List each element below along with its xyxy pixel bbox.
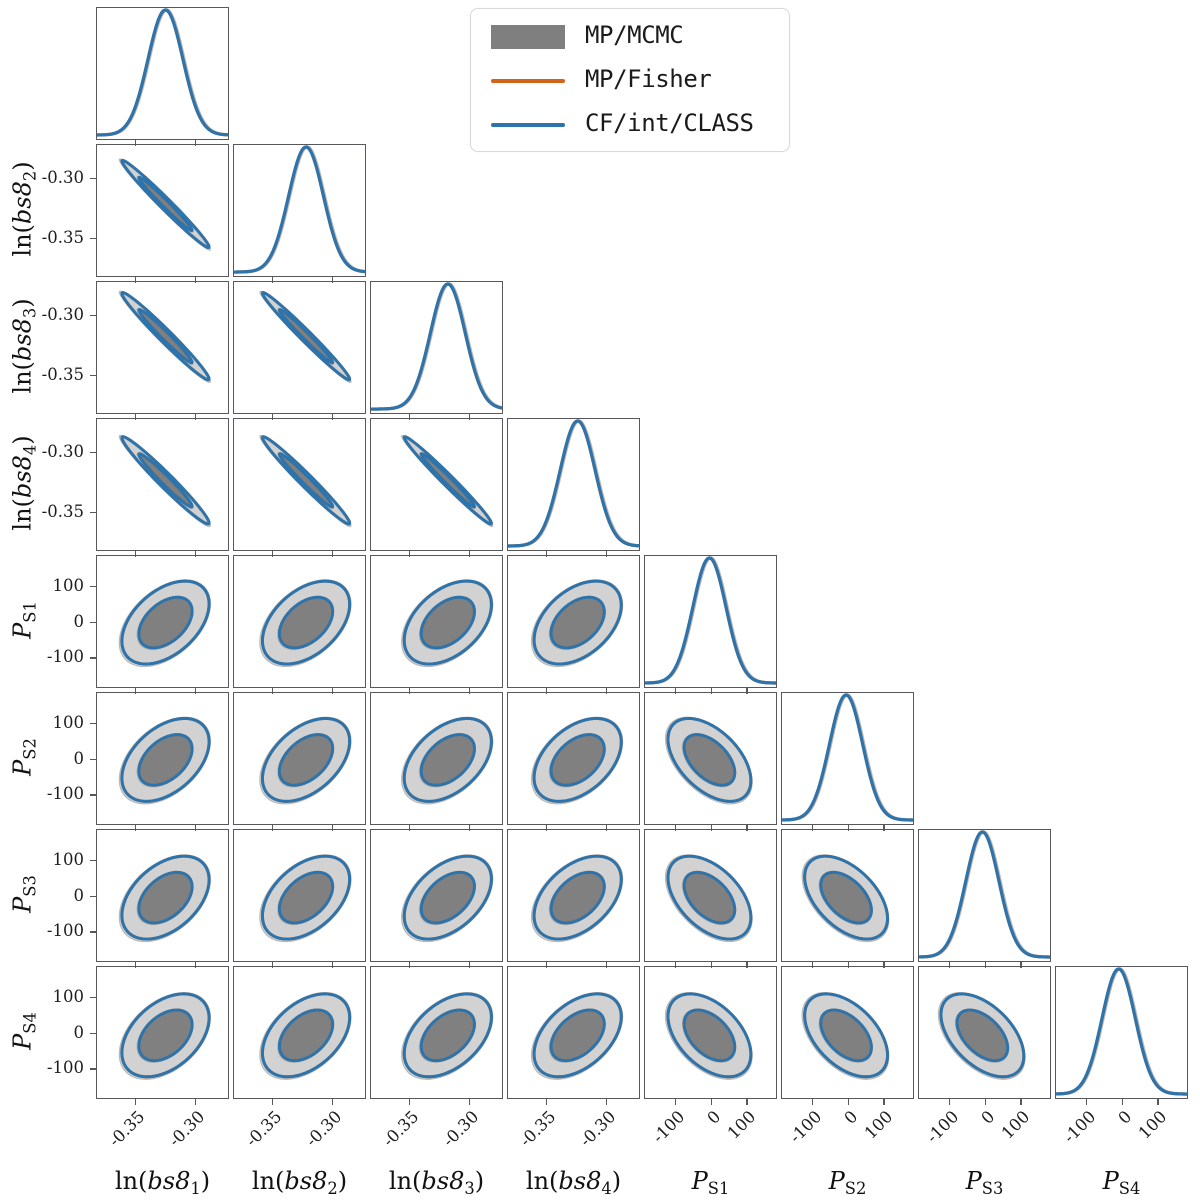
x-tick-mark [812,825,813,831]
x-tick-mark [272,1099,273,1105]
x-tick-mark [195,1099,196,1105]
x-tick-mark [546,551,547,557]
y-tick-mark [90,759,96,760]
x-tick-mark [746,962,747,968]
x-tick-mark [195,414,196,420]
legend-swatch-fisher [489,61,567,101]
x-tick-label: -0.30 [290,1107,346,1163]
legend-patch-icon [491,25,565,49]
panel-lnbs82-vs-lnbs81 [96,144,229,277]
x-tick-mark [332,1099,333,1105]
panel-PS2-vs-lnbs84 [507,692,640,825]
x-tick-mark [135,277,136,283]
panel-PS3-vs-lnbs84 [507,829,640,962]
legend-line-icon [491,79,565,83]
panel-PS1-vs-lnbs84 [507,555,640,688]
y-tick-mark [90,512,96,513]
x-tick-mark [711,825,712,831]
x-tick-mark [606,1099,607,1105]
panel-diagonal-PS4 [1055,966,1188,1099]
panel-diagonal-PS1 [644,555,777,688]
panel-diagonal-lnbs84 [507,418,640,551]
x-tick-mark [195,551,196,557]
panel-PS4-vs-lnbs82 [233,966,366,1099]
panel-PS4-vs-lnbs81 [96,966,229,1099]
x-tick-mark [546,688,547,694]
x-tick-mark [469,688,470,694]
panel-PS4-vs-PS2 [781,966,914,1099]
x-tick-mark [1086,1099,1087,1105]
x-tick-mark [883,962,884,968]
y-tick-mark [90,860,96,861]
x-tick-mark [848,825,849,831]
x-tick-mark [469,551,470,557]
panel-diagonal-lnbs81 [96,7,229,140]
y-tick-mark [90,657,96,658]
panel-PS2-vs-lnbs82 [233,692,366,825]
panel-diagonal-lnbs83 [370,281,503,414]
x-tick-mark [606,551,607,557]
x-tick-mark [606,962,607,968]
x-tick-mark [272,551,273,557]
x-tick-mark [332,825,333,831]
panel-lnbs84-vs-lnbs82 [233,418,366,551]
x-tick-mark [546,1099,547,1105]
panel-PS4-vs-lnbs84 [507,966,640,1099]
x-tick-mark [409,962,410,968]
y-tick-mark [90,723,96,724]
x-tick-mark [195,140,196,146]
x-tick-mark [883,1099,884,1105]
x-tick-mark [711,1099,712,1105]
x-tick-mark [332,551,333,557]
panel-PS4-vs-lnbs83 [370,966,503,1099]
x-tick-label: -0.30 [427,1107,483,1163]
x-tick-mark [949,962,950,968]
panel-PS4-vs-PS3 [918,966,1051,1099]
y-axis-label-PS4: PS4 [8,944,36,1117]
x-tick-label: -0.35 [229,1107,285,1163]
panel-PS3-vs-lnbs83 [370,829,503,962]
x-tick-mark [985,1099,986,1105]
x-axis-label-PS4: PS4 [1035,1167,1200,1195]
x-tick-mark [135,825,136,831]
panel-lnbs84-vs-lnbs83 [370,418,503,551]
y-tick-mark [90,178,96,179]
y-tick-mark [90,896,96,897]
panel-lnbs83-vs-lnbs82 [233,281,366,414]
panel-PS1-vs-lnbs82 [233,555,366,688]
panel-PS3-vs-lnbs81 [96,829,229,962]
x-tick-mark [135,414,136,420]
x-tick-mark [848,1099,849,1105]
y-tick-mark [90,586,96,587]
legend-label-class: CF/int/CLASS [585,109,754,137]
panel-diagonal-PS2 [781,692,914,825]
panel-PS1-vs-lnbs81 [96,555,229,688]
legend-line-icon [491,123,565,127]
x-tick-mark [469,1099,470,1105]
x-tick-mark [272,962,273,968]
x-tick-label: -0.30 [564,1107,620,1163]
x-tick-mark [606,825,607,831]
x-tick-mark [675,1099,676,1105]
x-tick-mark [195,277,196,283]
panel-PS4-vs-PS1 [644,966,777,1099]
x-tick-mark [746,1099,747,1105]
legend-entry-class: CF/int/CLASS [489,105,779,145]
y-tick-mark [90,238,96,239]
x-tick-mark [469,414,470,420]
x-tick-mark [332,962,333,968]
x-tick-mark [606,688,607,694]
x-tick-mark [272,414,273,420]
x-tick-label: -0.35 [366,1107,422,1163]
panel-PS1-vs-lnbs83 [370,555,503,688]
legend-entry-fisher: MP/Fisher [489,61,779,101]
x-tick-mark [332,277,333,283]
y-tick-mark [90,1068,96,1069]
x-tick-mark [711,962,712,968]
x-tick-mark [1157,1099,1158,1105]
x-tick-mark [135,1099,136,1105]
x-tick-mark [135,962,136,968]
panel-PS3-vs-PS1 [644,829,777,962]
x-tick-label: -0.35 [92,1107,148,1163]
x-tick-mark [195,962,196,968]
legend: MP/MCMC MP/Fisher CF/int/CLASS [470,8,790,152]
panel-diagonal-PS3 [918,829,1051,962]
x-tick-mark [1122,1099,1123,1105]
y-tick-mark [90,997,96,998]
x-tick-mark [985,962,986,968]
x-tick-mark [675,962,676,968]
x-tick-mark [812,1099,813,1105]
x-tick-mark [711,688,712,694]
y-tick-mark [90,1033,96,1034]
x-tick-mark [135,140,136,146]
legend-label-mcmc: MP/MCMC [585,21,683,49]
y-tick-mark [90,931,96,932]
x-tick-mark [332,414,333,420]
legend-swatch-class [489,105,567,145]
x-tick-mark [469,962,470,968]
panel-PS3-vs-PS2 [781,829,914,962]
x-tick-mark [135,688,136,694]
x-tick-mark [1020,962,1021,968]
x-tick-mark [409,825,410,831]
x-tick-mark [409,414,410,420]
x-tick-mark [195,688,196,694]
y-tick-mark [90,315,96,316]
x-tick-mark [409,551,410,557]
x-tick-mark [1020,1099,1021,1105]
x-tick-mark [848,962,849,968]
x-tick-mark [332,688,333,694]
x-tick-mark [409,688,410,694]
x-tick-mark [546,825,547,831]
x-tick-mark [746,825,747,831]
panel-PS2-vs-lnbs81 [96,692,229,825]
y-tick-mark [90,375,96,376]
x-tick-mark [675,825,676,831]
panel-PS3-vs-lnbs82 [233,829,366,962]
panel-lnbs83-vs-lnbs81 [96,281,229,414]
x-tick-mark [272,277,273,283]
y-tick-mark [90,452,96,453]
legend-swatch-mcmc [489,17,567,57]
panel-lnbs84-vs-lnbs81 [96,418,229,551]
panel-PS2-vs-PS1 [644,692,777,825]
corner-plot-figure: MP/MCMC MP/Fisher CF/int/CLASS -0.35-0.3… [0,0,1200,1200]
x-tick-mark [409,1099,410,1105]
x-tick-label: -0.30 [153,1107,209,1163]
x-tick-label: -0.35 [503,1107,559,1163]
legend-entry-mcmc: MP/MCMC [489,17,779,57]
x-tick-mark [195,825,196,831]
x-tick-mark [272,825,273,831]
x-tick-mark [812,962,813,968]
x-tick-mark [546,962,547,968]
x-tick-mark [272,688,273,694]
legend-label-fisher: MP/Fisher [585,65,711,93]
panel-diagonal-lnbs82 [233,144,366,277]
x-tick-mark [883,825,884,831]
panel-PS2-vs-lnbs83 [370,692,503,825]
x-tick-mark [135,551,136,557]
x-tick-mark [675,688,676,694]
y-tick-mark [90,622,96,623]
x-tick-mark [746,688,747,694]
x-tick-mark [469,825,470,831]
y-tick-mark [90,794,96,795]
x-tick-mark [949,1099,950,1105]
